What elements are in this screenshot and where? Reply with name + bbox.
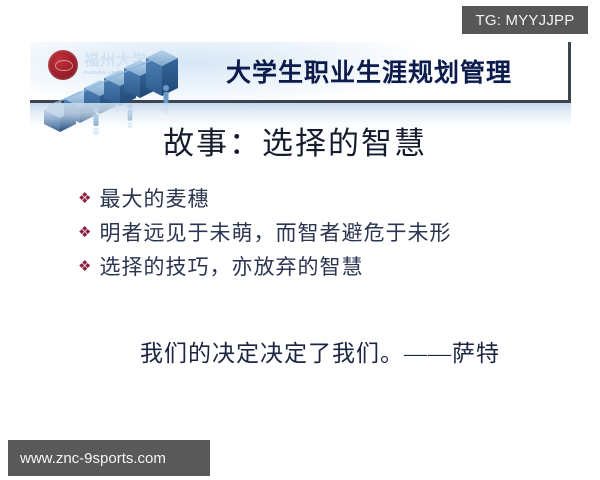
university-logo: 福州大学 FUZHOU UNIVERSITY xyxy=(48,50,148,80)
logo-english-name: FUZHOU UNIVERSITY xyxy=(84,71,148,76)
bullet-text: 最大的麦穗 xyxy=(99,186,209,212)
slide-heading: 故事：选择的智慧 xyxy=(163,118,427,163)
logo-chinese-name: 福州大学 xyxy=(84,54,148,69)
diamond-bullet-icon: ❖ xyxy=(78,186,91,212)
university-seal-icon xyxy=(48,50,78,80)
diamond-bullet-icon: ❖ xyxy=(78,220,91,246)
bullet-text: 选择的技巧，亦放弃的智慧 xyxy=(99,254,363,280)
list-item: ❖ 选择的技巧，亦放弃的智慧 xyxy=(78,254,548,280)
slide-header-banner: 福州大学 FUZHOU UNIVERSITY 大学生职业生涯规划管理 xyxy=(30,42,571,103)
banner-title: 大学生职业生涯规划管理 xyxy=(226,53,512,89)
diamond-bullet-icon: ❖ xyxy=(78,254,91,280)
bullet-text: 明者远见于未萌，而智者避危于未形 xyxy=(99,220,451,246)
tg-watermark-badge: TG: MYYJJPP xyxy=(462,6,588,34)
logo-wordmark: 福州大学 FUZHOU UNIVERSITY xyxy=(84,54,148,76)
bullet-list: ❖ 最大的麦穗 ❖ 明者远见于未萌，而智者避危于未形 ❖ 选择的技巧，亦放弃的智… xyxy=(78,186,548,288)
slide-quotation: 我们的决定决定了我们。——萨特 xyxy=(140,334,500,368)
site-watermark-badge: www.znc-9sports.com xyxy=(8,440,210,476)
list-item: ❖ 明者远见于未萌，而智者避危于未形 xyxy=(78,220,548,246)
list-item: ❖ 最大的麦穗 xyxy=(78,186,548,212)
presentation-slide: TG: MYYJJPP 福州大学 FUZHOU UNIVERSITY 大学生职业… xyxy=(0,0,600,480)
